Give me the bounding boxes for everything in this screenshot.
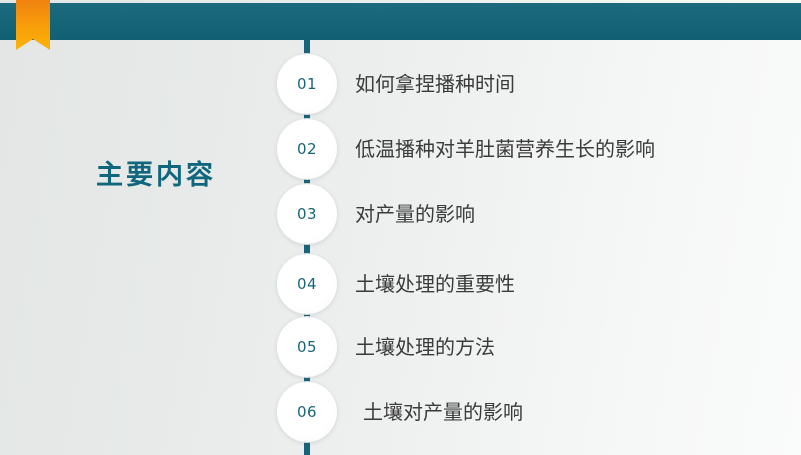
timeline-list: 01 如何拿捏播种时间 02 低温播种对羊肚菌营养生长的影响 03 对产量的影响… — [0, 0, 801, 455]
timeline-number: 04 — [297, 277, 317, 292]
timeline-number: 02 — [297, 142, 317, 157]
slide-canvas: 主要内容 01 如何拿捏播种时间 02 低温播种对羊肚菌营养生长的影响 03 对… — [0, 0, 801, 455]
timeline-marker-circle: 02 — [277, 119, 337, 179]
timeline-label: 土壤对产量的影响 — [363, 398, 523, 426]
timeline-marker-circle: 06 — [277, 382, 337, 442]
timeline-number: 05 — [297, 340, 317, 355]
timeline-number: 01 — [297, 77, 317, 92]
timeline-marker-circle: 01 — [277, 54, 337, 114]
timeline-label: 低温播种对羊肚菌营养生长的影响 — [355, 135, 655, 163]
timeline-marker-circle: 05 — [277, 317, 337, 377]
timeline-label: 对产量的影响 — [355, 200, 475, 228]
timeline-marker-circle: 03 — [277, 184, 337, 244]
timeline-marker-circle: 04 — [277, 254, 337, 314]
timeline-number: 03 — [297, 207, 317, 222]
timeline-label: 土壤处理的重要性 — [355, 270, 515, 298]
timeline-label: 土壤处理的方法 — [355, 333, 495, 361]
timeline-number: 06 — [297, 405, 317, 420]
timeline-label: 如何拿捏播种时间 — [355, 70, 515, 98]
